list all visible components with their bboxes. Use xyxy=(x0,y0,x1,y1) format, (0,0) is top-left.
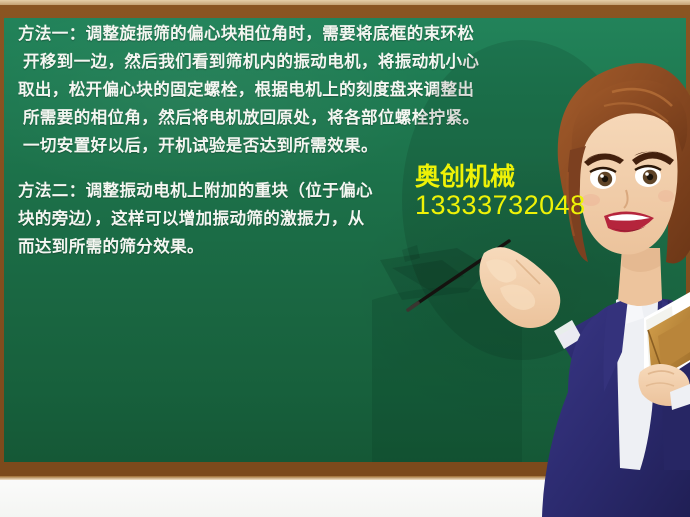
watermark: 奥创机械 13333732048 xyxy=(415,163,586,220)
blackboard-image: 方法一：调整旋振筛的偏心块相位角时，需要将底框的束环松 开移到一边，然后我们看到… xyxy=(0,0,690,517)
watermark-phone-number: 13333732048 xyxy=(415,191,586,220)
method-one-line-1: 方法一：调整旋振筛的偏心块相位角时，需要将底框的束环松 xyxy=(18,20,538,48)
wall-background xyxy=(0,478,690,517)
frame-top-highlight xyxy=(0,0,690,5)
method-two-line-3: 而达到所需的筛分效果。 xyxy=(18,233,538,261)
method-one-line-5: 一切安置好以后，开机试验是否达到所需效果。 xyxy=(18,132,538,160)
frame-bottom-highlight xyxy=(0,476,690,480)
method-one-line-4: 所需要的相位角，然后将电机放回原处，将各部位螺栓拧紧。 xyxy=(18,104,538,132)
watermark-company-name: 奥创机械 xyxy=(415,163,586,191)
method-one-line-3: 取出，松开偏心块的固定螺栓，根据电机上的刻度盘来调整出 xyxy=(18,76,538,104)
chalk-text-block: 方法一：调整旋振筛的偏心块相位角时，需要将底框的束环松 开移到一边，然后我们看到… xyxy=(18,20,538,261)
method-one-line-2: 开移到一边，然后我们看到筛机内的振动电机，将振动机小心 xyxy=(18,48,538,76)
